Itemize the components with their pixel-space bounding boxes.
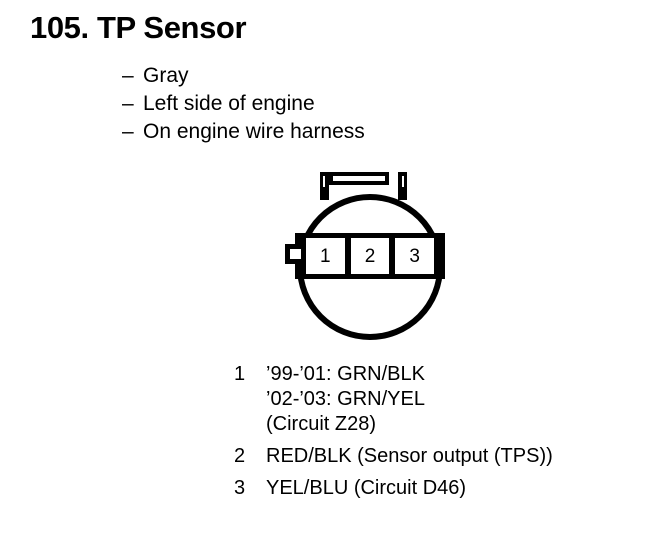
- latch-bar-icon: [329, 172, 389, 185]
- legend-line: YEL/BLU (Circuit D46): [266, 476, 466, 501]
- dash-icon: –: [122, 90, 143, 118]
- legend-pin-description: RED/BLK (Sensor output (TPS)): [266, 444, 553, 469]
- terminal-cell-1: 1: [306, 238, 345, 274]
- spec-item-location: – Left side of engine: [122, 90, 542, 118]
- legend-pin-number: 3: [234, 476, 266, 501]
- latch-post-right-slot-icon: [402, 176, 404, 187]
- legend-pin-description: ’99-’01: GRN/BLK ’02-’03: GRN/YEL (Circu…: [266, 362, 425, 437]
- page-title: 105. TP Sensor: [30, 12, 246, 45]
- legend-spacer: [234, 437, 664, 444]
- dash-icon: –: [122, 62, 143, 90]
- legend-pin-number: 2: [234, 444, 266, 469]
- terminal-band: 1 2 3: [295, 233, 445, 279]
- dash-icon: –: [122, 118, 143, 146]
- spec-item-label: Left side of engine: [143, 90, 315, 118]
- legend-line: ’02-’03: GRN/YEL: [266, 387, 425, 412]
- connector-keying-nub-icon: [285, 244, 301, 264]
- terminal-cell-3: 3: [395, 238, 434, 274]
- legend-line: RED/BLK (Sensor output (TPS)): [266, 444, 553, 469]
- pin-legend: 1 ’99-’01: GRN/BLK ’02-’03: GRN/YEL (Cir…: [234, 362, 664, 501]
- legend-row-pin-2: 2 RED/BLK (Sensor output (TPS)): [234, 444, 664, 469]
- legend-pin-description: YEL/BLU (Circuit D46): [266, 476, 466, 501]
- connector-diagram: 1 2 3: [285, 172, 455, 322]
- spec-item-label: On engine wire harness: [143, 118, 365, 146]
- legend-line: (Circuit Z28): [266, 412, 425, 437]
- legend-pin-number: 1: [234, 362, 266, 387]
- terminal-cell-2: 2: [351, 238, 390, 274]
- spec-item-harness: – On engine wire harness: [122, 118, 542, 146]
- spec-list: – Gray – Left side of engine – On engine…: [122, 62, 542, 146]
- spec-item-color: – Gray: [122, 62, 542, 90]
- spec-item-label: Gray: [143, 62, 189, 90]
- legend-row-pin-1: 1 ’99-’01: GRN/BLK ’02-’03: GRN/YEL (Cir…: [234, 362, 664, 437]
- legend-spacer: [234, 469, 664, 476]
- legend-line: ’99-’01: GRN/BLK: [266, 362, 425, 387]
- legend-row-pin-3: 3 YEL/BLU (Circuit D46): [234, 476, 664, 501]
- latch-post-left-slot-icon: [323, 176, 325, 187]
